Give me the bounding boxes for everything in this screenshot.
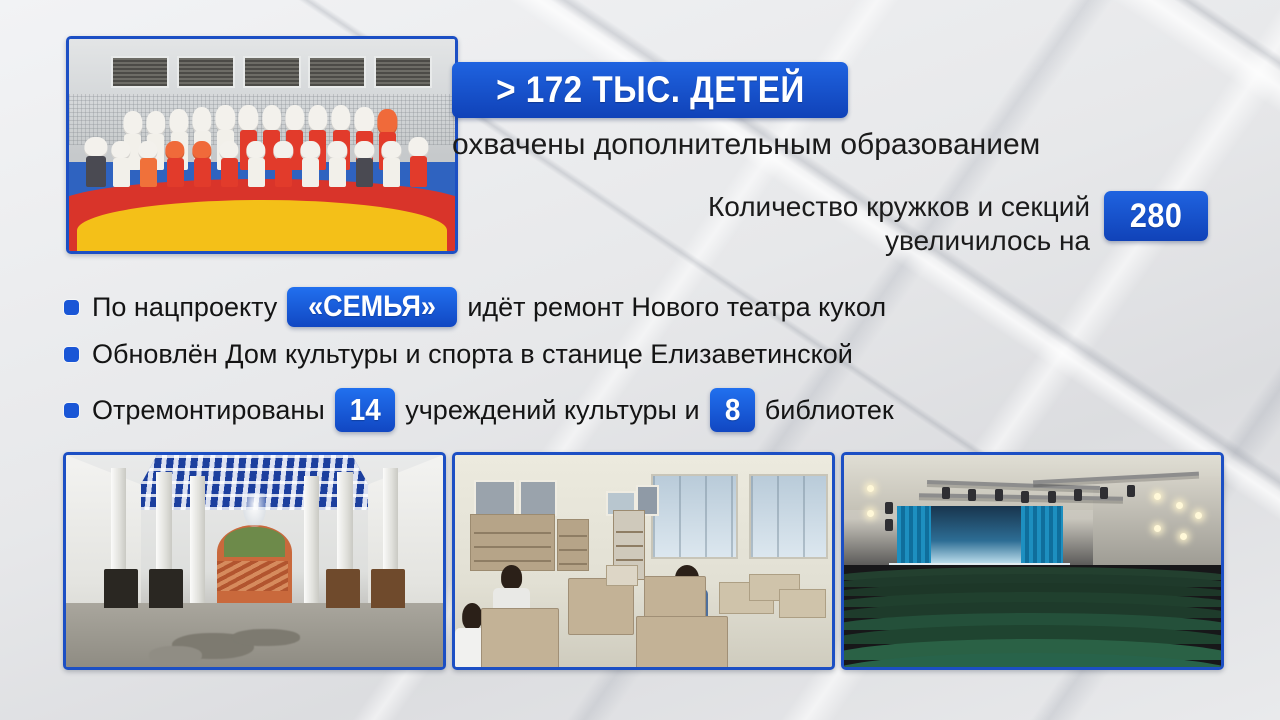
infographic-slide: > 172 ТЫС. ДЕТЕЙ охвачены дополнительным…	[0, 0, 1280, 720]
bullet-marker-icon	[64, 347, 79, 362]
photo-martial-arts-children	[66, 36, 458, 254]
bullet-3-badge-libraries: 8	[710, 388, 755, 432]
bullet-item-2: Обновлён Дом культуры и спорта в станице…	[64, 339, 853, 370]
stat-clubs-label-line1: Количество кружков и секций	[560, 190, 1090, 224]
bullet-1-badge: «СЕМЬЯ»	[287, 287, 457, 327]
bullet-3-badge-libraries-text: 8	[724, 392, 740, 428]
bullet-1-pre: По нацпроекту	[92, 292, 277, 323]
photo-hall-under-renovation	[63, 452, 446, 670]
stat-clubs-label-line2: увеличилось на	[560, 224, 1090, 258]
headline-subtitle: охвачены дополнительным образованием	[452, 128, 1182, 162]
stat-clubs-value: 280	[1130, 197, 1182, 236]
headline-badge: > 172 ТЫС. ДЕТЕЙ	[452, 62, 848, 118]
bullet-marker-icon	[64, 300, 79, 315]
bullet-3-pre: Отремонтированы	[92, 395, 325, 426]
photo-art-classroom	[452, 452, 835, 670]
photo-auditorium	[841, 452, 1224, 670]
stat-clubs-label: Количество кружков и секций увеличилось …	[560, 190, 1090, 258]
bullet-3-post: библиотек	[765, 395, 894, 426]
stat-clubs-value-badge: 280	[1104, 191, 1208, 241]
bullet-1-badge-text: «СЕМЬЯ»	[308, 290, 436, 324]
bullet-3-badge-institutions-text: 14	[349, 392, 380, 428]
bullet-item-3: Отремонтированы 14 учреждений культуры и…	[64, 388, 894, 432]
bullet-1-post: идёт ремонт Нового театра кукол	[467, 292, 886, 323]
bullet-marker-icon	[64, 403, 79, 418]
headline-badge-text: > 172 ТЫС. ДЕТЕЙ	[496, 69, 805, 111]
bullet-item-1: По нацпроекту «СЕМЬЯ» идёт ремонт Нового…	[64, 287, 886, 327]
bullet-3-badge-institutions: 14	[335, 388, 395, 432]
bullet-2-text: Обновлён Дом культуры и спорта в станице…	[92, 339, 853, 370]
bullet-3-mid: учреждений культуры и	[405, 395, 699, 426]
